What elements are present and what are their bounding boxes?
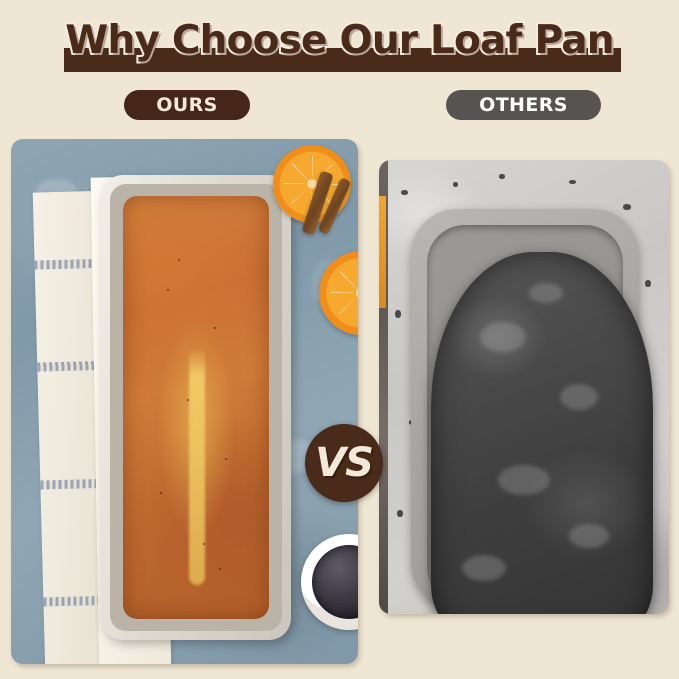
loaf-pan-metal <box>101 175 291 640</box>
loaf-pan-silicone <box>411 209 639 609</box>
vs-label: VS <box>315 443 373 483</box>
panel-ours: Heavy duty material and construction for… <box>11 139 358 664</box>
comparison-infographic: Why Choose Our Loaf Pan OURS OTHERS <box>0 0 679 679</box>
loaf-pan-silicone-interior <box>427 225 623 605</box>
photo-ours <box>11 139 358 664</box>
loaf-pan-interior <box>110 184 282 631</box>
panel-others: Easy to leak and bread distortion <box>379 160 669 614</box>
vs-badge: VS <box>305 424 383 502</box>
poppy-seed-bowl <box>301 534 358 630</box>
badge-ours: OURS <box>124 90 250 120</box>
page-title: Why Choose Our Loaf Pan <box>0 18 679 63</box>
badge-others-label: OTHERS <box>479 94 568 116</box>
badge-others: OTHERS <box>446 90 601 120</box>
orange-edge-sliver <box>379 196 386 308</box>
photo-others <box>379 160 669 614</box>
loaf-crack <box>189 348 205 585</box>
badge-ours-label: OURS <box>156 94 218 116</box>
header: Why Choose Our Loaf Pan <box>0 10 679 82</box>
baked-loaf-distorted <box>431 252 653 614</box>
baked-loaf-good <box>123 196 269 619</box>
